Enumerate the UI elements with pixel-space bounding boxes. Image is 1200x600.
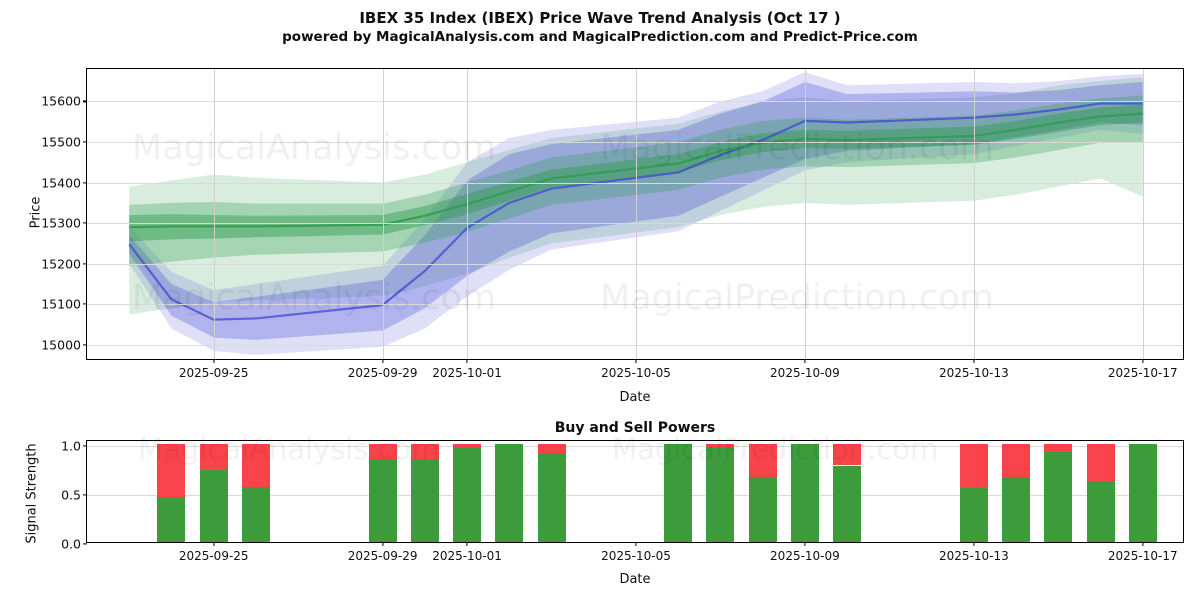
signal-date-tick-label: 2025-10-05 [601, 549, 671, 563]
signal-date-tick-label: 2025-09-29 [348, 549, 418, 563]
sell-power-segment [1087, 444, 1115, 482]
price-tick-mark [83, 263, 87, 264]
date-tick-mark [466, 359, 467, 363]
buy-power-segment [960, 488, 988, 542]
sell-power-segment [1044, 444, 1072, 452]
date-tick-label: 2025-09-25 [179, 366, 249, 380]
price-axis-label: Price [29, 173, 44, 253]
signal-bar[interactable] [1002, 444, 1030, 542]
buy-power-segment [242, 487, 270, 542]
buy-power-segment [495, 444, 523, 542]
date-tick-mark [382, 359, 383, 363]
buy-power-segment [1129, 444, 1157, 542]
date-gridline [1143, 69, 1144, 359]
price-tick-mark [83, 223, 87, 224]
signal-chart-x-axis-label: Date [86, 572, 1184, 587]
sell-power-segment [1002, 444, 1030, 477]
signal-bar[interactable] [960, 444, 988, 542]
page-title: IBEX 35 Index (IBEX) Price Wave Trend An… [0, 8, 1200, 28]
date-tick-mark [973, 359, 974, 363]
price-gridline [87, 264, 1183, 265]
signal-date-tick-mark [466, 542, 467, 546]
buy-power-segment [1002, 477, 1030, 542]
date-tick-mark [213, 359, 214, 363]
signal-date-tick-mark [973, 542, 974, 546]
price-tick-label: 15000 [41, 337, 81, 352]
date-tick-label: 2025-10-05 [601, 366, 671, 380]
buy-power-segment [833, 466, 861, 543]
watermark-prediction-3: MagicalPrediction.com [612, 432, 938, 466]
signal-tick-mark [83, 494, 87, 495]
signal-tick-mark [83, 543, 87, 544]
signal-tick-label: 0.0 [61, 537, 81, 552]
buy-power-segment [453, 448, 481, 542]
price-gridline [87, 101, 1183, 102]
signal-date-tick-label: 2025-09-25 [179, 549, 249, 563]
buy-power-segment [411, 459, 439, 542]
signal-tick-mark [83, 445, 87, 446]
price-tick-mark [83, 101, 87, 102]
signal-date-tick-mark [382, 542, 383, 546]
page-subtitle: powered by MagicalAnalysis.com and Magic… [0, 28, 1200, 47]
price-gridline [87, 223, 1183, 224]
signal-bar[interactable] [1129, 444, 1157, 542]
signal-bar[interactable] [1087, 444, 1115, 542]
date-tick-label: 2025-10-17 [1108, 366, 1178, 380]
price-tick-label: 15400 [41, 175, 81, 190]
signal-date-tick-label: 2025-10-13 [939, 549, 1009, 563]
price-tick-mark [83, 304, 87, 305]
buy-power-segment [157, 497, 185, 542]
signal-date-tick-mark [1142, 542, 1143, 546]
signal-tick-label: 0.5 [61, 487, 81, 502]
buy-power-segment [1087, 482, 1115, 542]
date-tick-mark [804, 359, 805, 363]
page-title-block: IBEX 35 Index (IBEX) Price Wave Trend An… [0, 8, 1200, 47]
date-tick-mark [635, 359, 636, 363]
sell-power-segment [960, 444, 988, 488]
price-tick-label: 15200 [41, 256, 81, 271]
buy-power-segment [749, 477, 777, 542]
watermark-prediction-2: MagicalPrediction.com [600, 278, 994, 318]
price-gridline [87, 345, 1183, 346]
signal-tick-label: 1.0 [61, 438, 81, 453]
date-tick-label: 2025-10-13 [939, 366, 1009, 380]
buy-power-segment [1044, 452, 1072, 542]
buy-power-segment [200, 470, 228, 542]
signal-date-tick-mark [213, 542, 214, 546]
buy-power-segment [369, 459, 397, 542]
buy-power-segment [538, 453, 566, 542]
signal-date-tick-label: 2025-10-09 [770, 549, 840, 563]
price-tick-mark [83, 141, 87, 142]
signal-date-tick-mark [804, 542, 805, 546]
price-tick-mark [83, 344, 87, 345]
price-tick-label: 15600 [41, 94, 81, 109]
date-tick-label: 2025-10-01 [432, 366, 502, 380]
sell-power-segment [538, 444, 566, 453]
watermark-analysis-3: MagicalAnalysis.com [138, 432, 440, 466]
price-gridline [87, 183, 1183, 184]
signal-bar[interactable] [1044, 444, 1072, 542]
watermark-prediction-1: MagicalPrediction.com [600, 128, 994, 168]
signal-bar[interactable] [538, 444, 566, 542]
date-tick-label: 2025-09-29 [348, 366, 418, 380]
price-tick-label: 15500 [41, 135, 81, 150]
price-tick-mark [83, 182, 87, 183]
price-chart-x-axis-label: Date [86, 390, 1184, 405]
watermark-analysis-1: MagicalAnalysis.com [132, 128, 496, 168]
signal-bar[interactable] [453, 444, 481, 542]
date-tick-mark [1142, 359, 1143, 363]
chart-page: IBEX 35 Index (IBEX) Price Wave Trend An… [0, 0, 1200, 600]
signal-bar[interactable] [495, 444, 523, 542]
signal-date-tick-label: 2025-10-17 [1108, 549, 1178, 563]
signal-strength-axis-label: Signal Strength [25, 424, 40, 564]
watermark-analysis-2: MagicalAnalysis.com [132, 278, 496, 318]
price-tick-label: 15300 [41, 216, 81, 231]
signal-date-tick-label: 2025-10-01 [432, 549, 502, 563]
signal-date-tick-mark [635, 542, 636, 546]
date-tick-label: 2025-10-09 [770, 366, 840, 380]
price-tick-label: 15100 [41, 297, 81, 312]
